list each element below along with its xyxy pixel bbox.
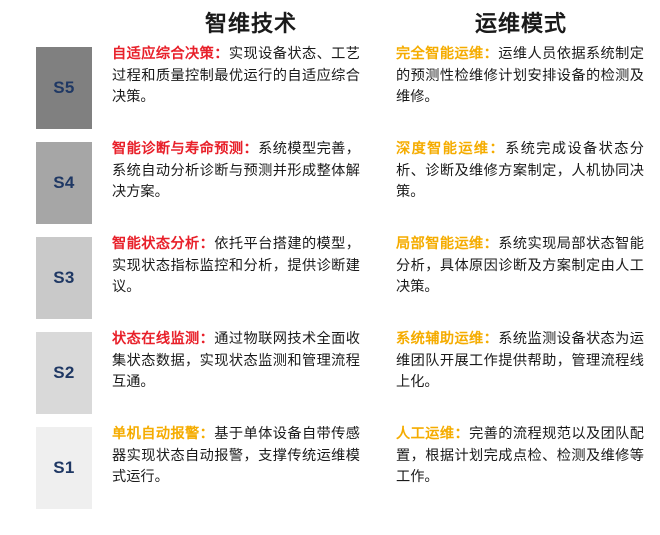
cell-left-s5: 自适应综合决策：实现设备状态、工艺过程和质量控制最优运行的自适应综合决策。 <box>112 44 360 109</box>
cell-left-s1: 单机自动报警：基于单体设备自带传感器实现状态自动报警，支撑传统运维模式运行。 <box>112 424 360 489</box>
cell-right-s1: 人工运维：完善的流程规范以及团队配置，根据计划完成点检、检测及维修等工作。 <box>396 424 644 489</box>
cell-lead: 状态在线监测： <box>112 331 214 347</box>
cell-right-s5: 完全智能运维：运维人员依据系统制定的预测性检维修计划安排设备的检测及维修。 <box>396 44 644 109</box>
maturity-row: S2状态在线监测：通过物联网技术全面收集状态数据，实现状态监测和管理流程互通。系… <box>0 329 660 424</box>
maturity-row: S5自适应综合决策：实现设备状态、工艺过程和质量控制最优运行的自适应综合决策。完… <box>0 44 660 139</box>
maturity-row: S4智能诊断与寿命预测：系统模型完善，系统自动分析诊断与预测并形成整体解决方案。… <box>0 139 660 234</box>
maturity-rows: S5自适应综合决策：实现设备状态、工艺过程和质量控制最优运行的自适应综合决策。完… <box>0 44 660 519</box>
cell-lead: 单机自动报警： <box>112 426 214 442</box>
maturity-model-slide: 智维技术 运维模式 S5自适应综合决策：实现设备状态、工艺过程和质量控制最优运行… <box>0 0 660 535</box>
cell-lead: 局部智能运维： <box>396 236 498 252</box>
column-headers: 智维技术 运维模式 <box>0 6 660 42</box>
level-badge-s3[interactable]: S3 <box>36 237 92 319</box>
level-badge-s4[interactable]: S4 <box>36 142 92 224</box>
level-badge-s2[interactable]: S2 <box>36 332 92 414</box>
cell-lead: 自适应综合决策： <box>112 46 229 62</box>
cell-lead: 深度智能运维： <box>396 141 505 157</box>
cell-lead: 系统辅助运维： <box>396 331 498 347</box>
cell-left-s3: 智能状态分析：依托平台搭建的模型，实现状态指标监控和分析，提供诊断建议。 <box>112 234 360 299</box>
level-badge-s1[interactable]: S1 <box>36 427 92 509</box>
cell-lead: 完全智能运维： <box>396 46 498 62</box>
cell-lead: 智能状态分析： <box>112 236 214 252</box>
level-badge-s5[interactable]: S5 <box>36 47 92 129</box>
cell-left-s4: 智能诊断与寿命预测：系统模型完善，系统自动分析诊断与预测并形成整体解决方案。 <box>112 139 360 204</box>
cell-right-s2: 系统辅助运维：系统监测设备状态为运维团队开展工作提供帮助，管理流程线上化。 <box>396 329 644 394</box>
maturity-row: S3智能状态分析：依托平台搭建的模型，实现状态指标监控和分析，提供诊断建议。局部… <box>0 234 660 329</box>
cell-left-s2: 状态在线监测：通过物联网技术全面收集状态数据，实现状态监测和管理流程互通。 <box>112 329 360 394</box>
column-header-left: 智维技术 <box>112 6 390 38</box>
cell-right-s3: 局部智能运维：系统实现局部状态智能分析，具体原因诊断及方案制定由人工决策。 <box>396 234 644 299</box>
cell-lead: 人工运维： <box>396 426 469 442</box>
cell-right-s4: 深度智能运维：系统完成设备状态分析、诊断及维修方案制定，人机协同决策。 <box>396 139 644 204</box>
column-header-right: 运维模式 <box>396 6 646 38</box>
cell-lead: 智能诊断与寿命预测： <box>112 141 258 157</box>
maturity-row: S1单机自动报警：基于单体设备自带传感器实现状态自动报警，支撑传统运维模式运行。… <box>0 424 660 519</box>
